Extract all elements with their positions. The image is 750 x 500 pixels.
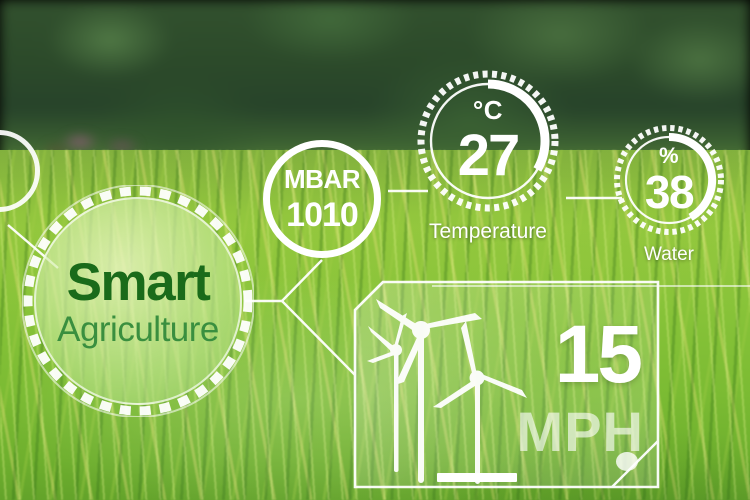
smart-agriculture-badge[interactable]: Smart Agriculture [22, 185, 254, 417]
screenshot-stage: Smart Agriculture MBAR 1010 °C 27 Temper… [0, 0, 750, 500]
gauge-water-label: Water [644, 244, 694, 266]
badge-text-group: Smart Agriculture [22, 185, 254, 417]
gauge-water[interactable]: % 38 Water [612, 123, 726, 237]
wind-panel-corner-dot [616, 452, 638, 471]
gauge-temperature-unit: °C [473, 97, 503, 123]
gauge-temperature-value: 27 [458, 127, 519, 185]
gauge-water-unit: % [659, 145, 679, 167]
wind-speed-panel[interactable]: 15 MPH [355, 282, 658, 487]
gauge-pressure-unit: MBAR [284, 164, 360, 195]
badge-subtitle: Agriculture [57, 312, 219, 347]
gauge-water-readout: % 38 [612, 123, 726, 237]
gauge-temperature[interactable]: °C 27 Temperature [415, 68, 561, 214]
gauge-water-value: 38 [645, 169, 693, 215]
gauge-pressure-readout: MBAR 1010 [263, 140, 381, 258]
wind-speed-value: 15 [555, 314, 640, 396]
gauge-pressure[interactable]: MBAR 1010 [263, 140, 381, 258]
gauge-temperature-readout: °C 27 [415, 68, 561, 214]
gauge-pressure-value: 1010 [286, 196, 358, 235]
badge-title: Smart [67, 256, 210, 309]
gauge-temperature-label: Temperature [429, 220, 547, 244]
wind-panel-bottom-bar [437, 473, 517, 482]
